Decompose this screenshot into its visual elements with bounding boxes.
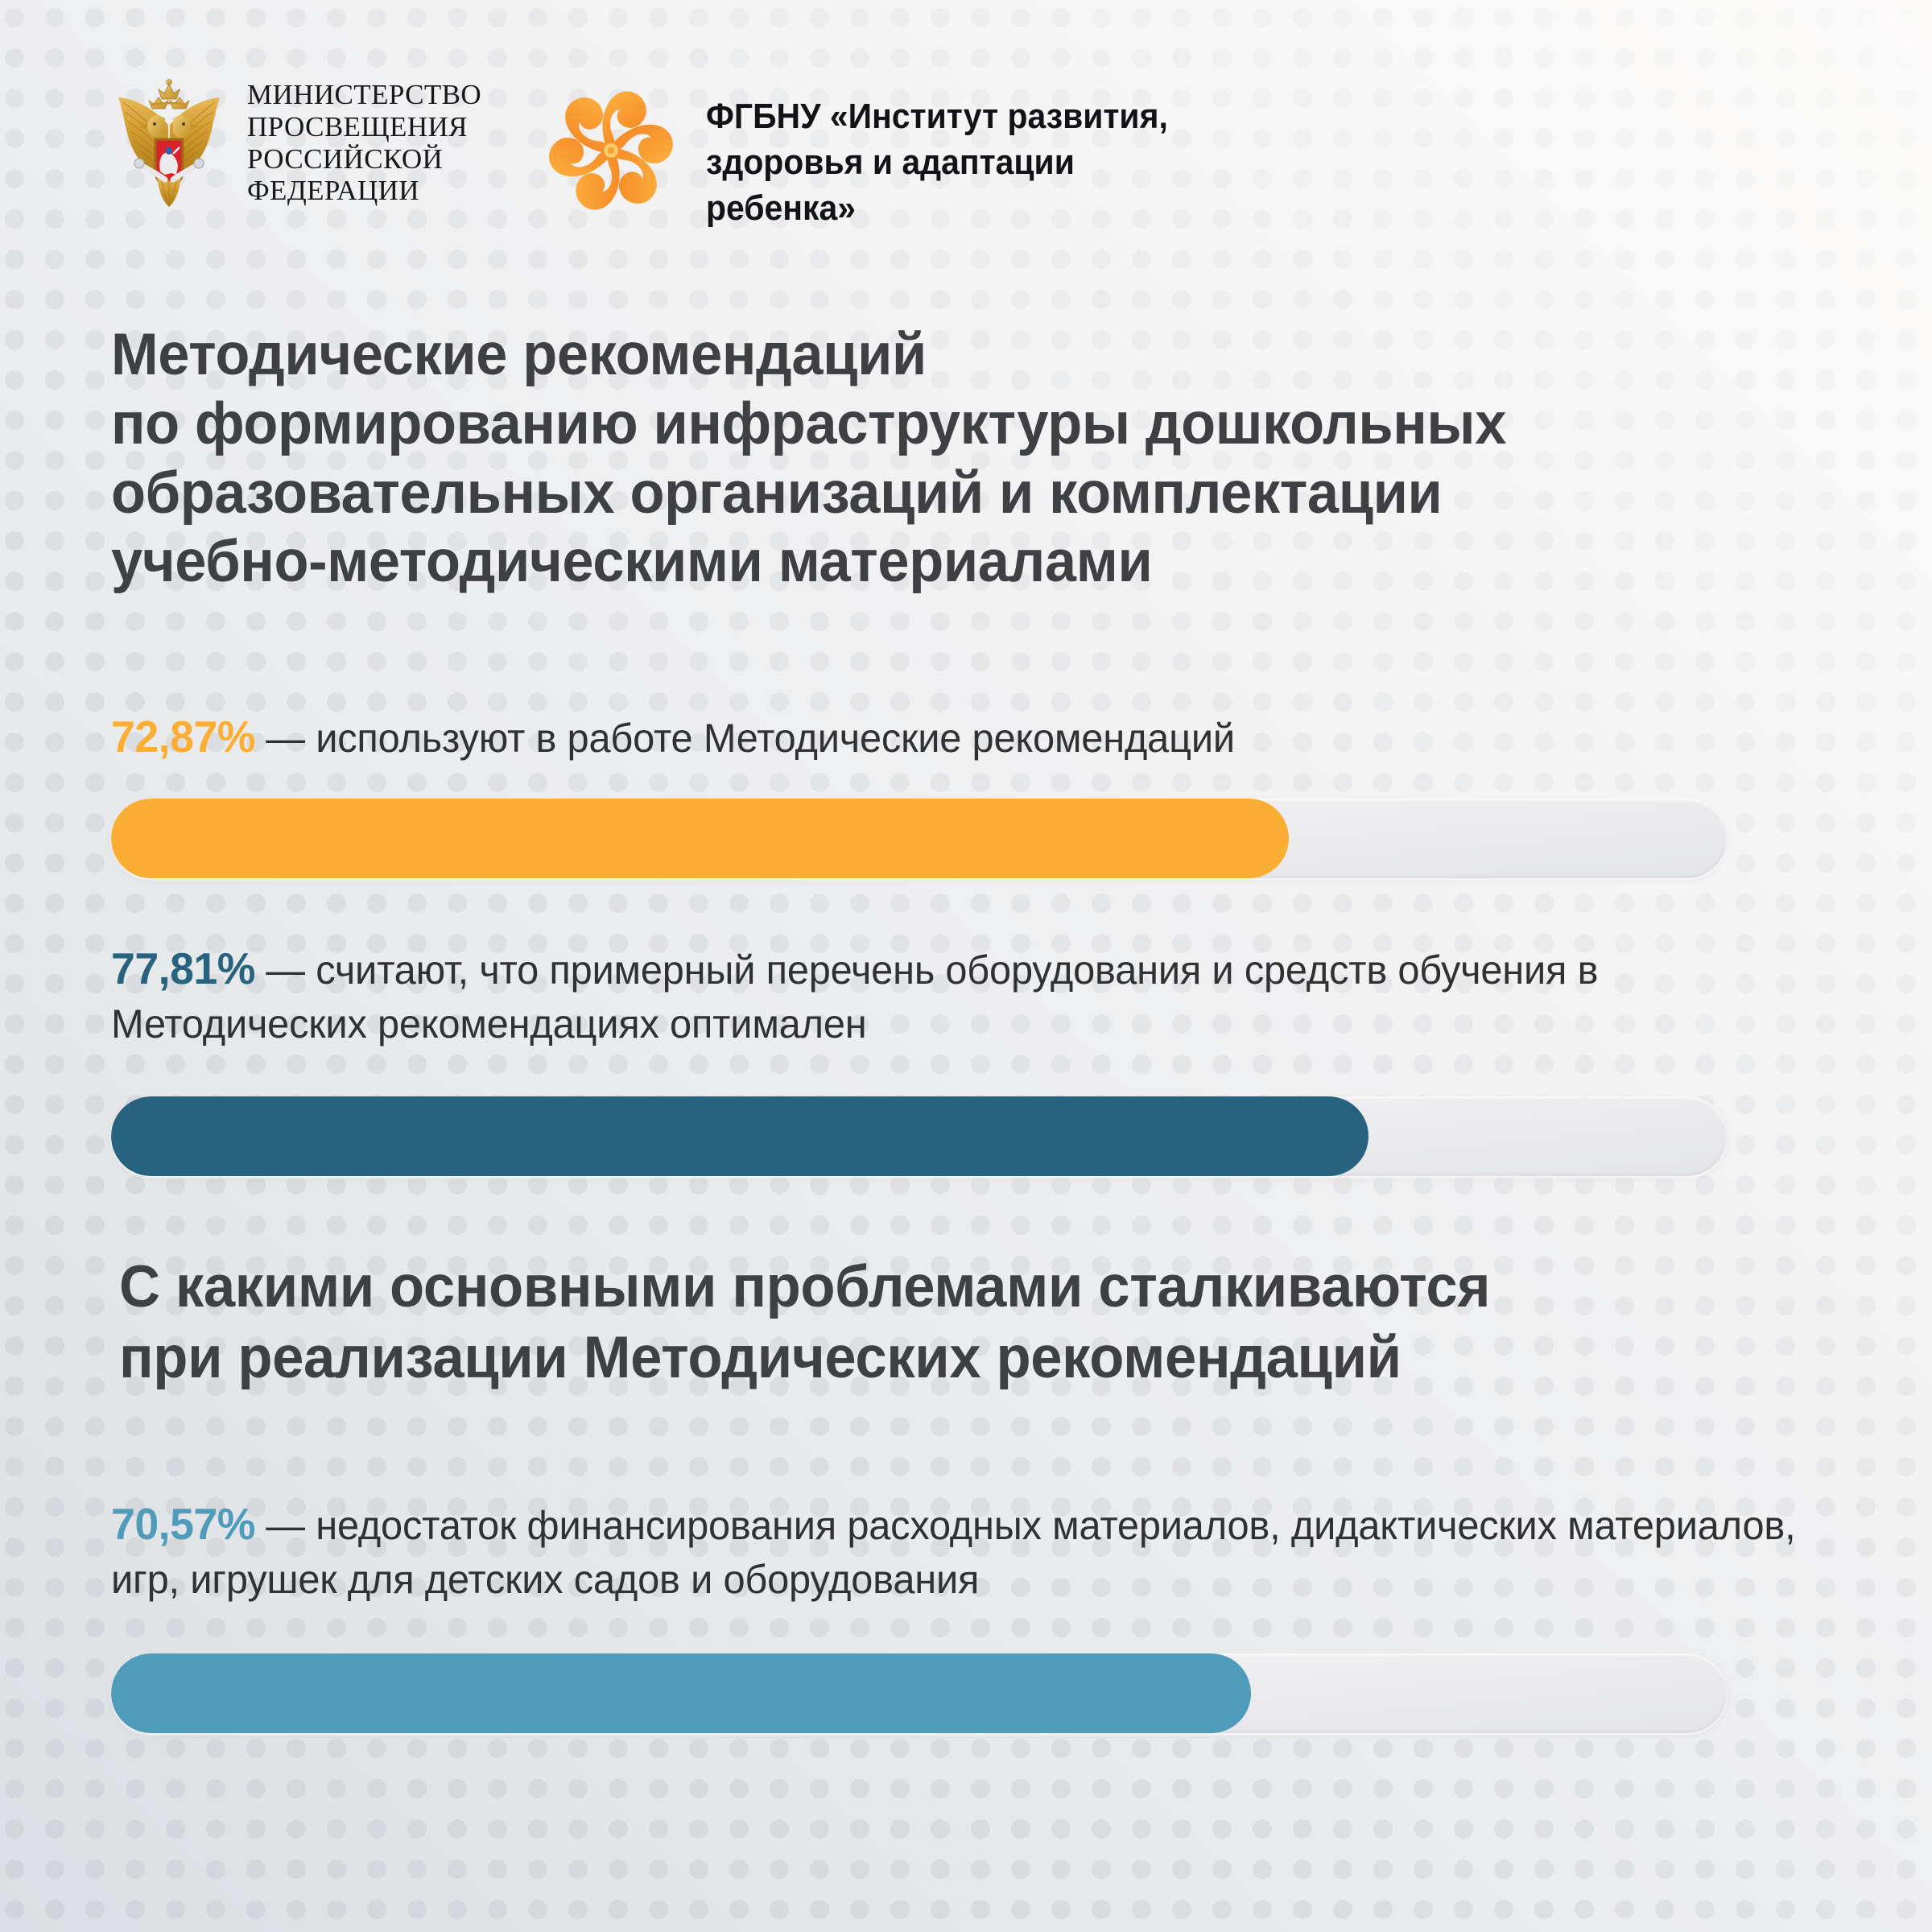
institute-branding: ФГБНУ «Институт развития, здоровья и ада… <box>540 76 1203 232</box>
stat-3-description: недостаток финансирования расходных мате… <box>111 1503 1795 1602</box>
stat-3-progress-track <box>111 1653 1727 1733</box>
stat-2-caption-line: 77,81% — считают, что примерный перечень… <box>111 940 1798 1051</box>
ministry-name-label: МИНИСТЕРСТВО ПРОСВЕЩЕНИЯ РОССИЙСКОЙ ФЕДЕ… <box>247 79 481 207</box>
stat-1-progress-fill <box>111 799 1289 878</box>
stat-2-dash: — <box>255 947 316 993</box>
stat-1-caption-line: 72,87% — используют в работе Методически… <box>111 708 1798 766</box>
institute-name-label: ФГБНУ «Институт развития, здоровья и ада… <box>706 93 1168 232</box>
stat-1-progress-track <box>111 799 1727 878</box>
stat-2-percent-value: 77,81% <box>111 943 255 993</box>
stat-block-2: 77,81% — считают, что примерный перечень… <box>111 940 1842 1176</box>
stat-3-percent-value: 70,57% <box>111 1499 255 1549</box>
stat-3-progress-fill <box>111 1653 1251 1733</box>
ministry-branding: МИНИСТЕРСТВО ПРОСВЕЩЕНИЯ РОССИЙСКОЙ ФЕДЕ… <box>109 76 481 209</box>
stat-block-1: 72,87% — используют в работе Методически… <box>111 708 1842 878</box>
page-title: Методические рекомендаций по формировани… <box>111 320 1781 597</box>
infographic-page: МИНИСТЕРСТВО ПРОСВЕЩЕНИЯ РОССИЙСКОЙ ФЕДЕ… <box>0 0 1932 1932</box>
stat-1-dash: — <box>255 716 316 761</box>
stat-1-description: используют в работе Методические рекомен… <box>316 716 1235 761</box>
russian-double-headed-eagle-emblem-icon <box>109 76 229 209</box>
stat-2-progress-fill <box>111 1096 1368 1176</box>
stat-2-description: считают, что примерный перечень оборудов… <box>111 947 1598 1046</box>
orange-pinwheel-flower-logo-icon <box>540 80 682 221</box>
stat-3-caption-line: 70,57% — недостаток финансирования расхо… <box>111 1496 1798 1606</box>
header: МИНИСТЕРСТВО ПРОСВЕЩЕНИЯ РОССИЙСКОЙ ФЕДЕ… <box>109 76 1203 232</box>
section-heading: С какими основными проблемами сталкивают… <box>119 1252 1794 1393</box>
stat-1-percent-value: 72,87% <box>111 712 255 762</box>
stat-3-dash: — <box>255 1503 316 1548</box>
stat-block-3: 70,57% — недостаток финансирования расхо… <box>111 1496 1842 1733</box>
stat-2-progress-track <box>111 1096 1727 1176</box>
